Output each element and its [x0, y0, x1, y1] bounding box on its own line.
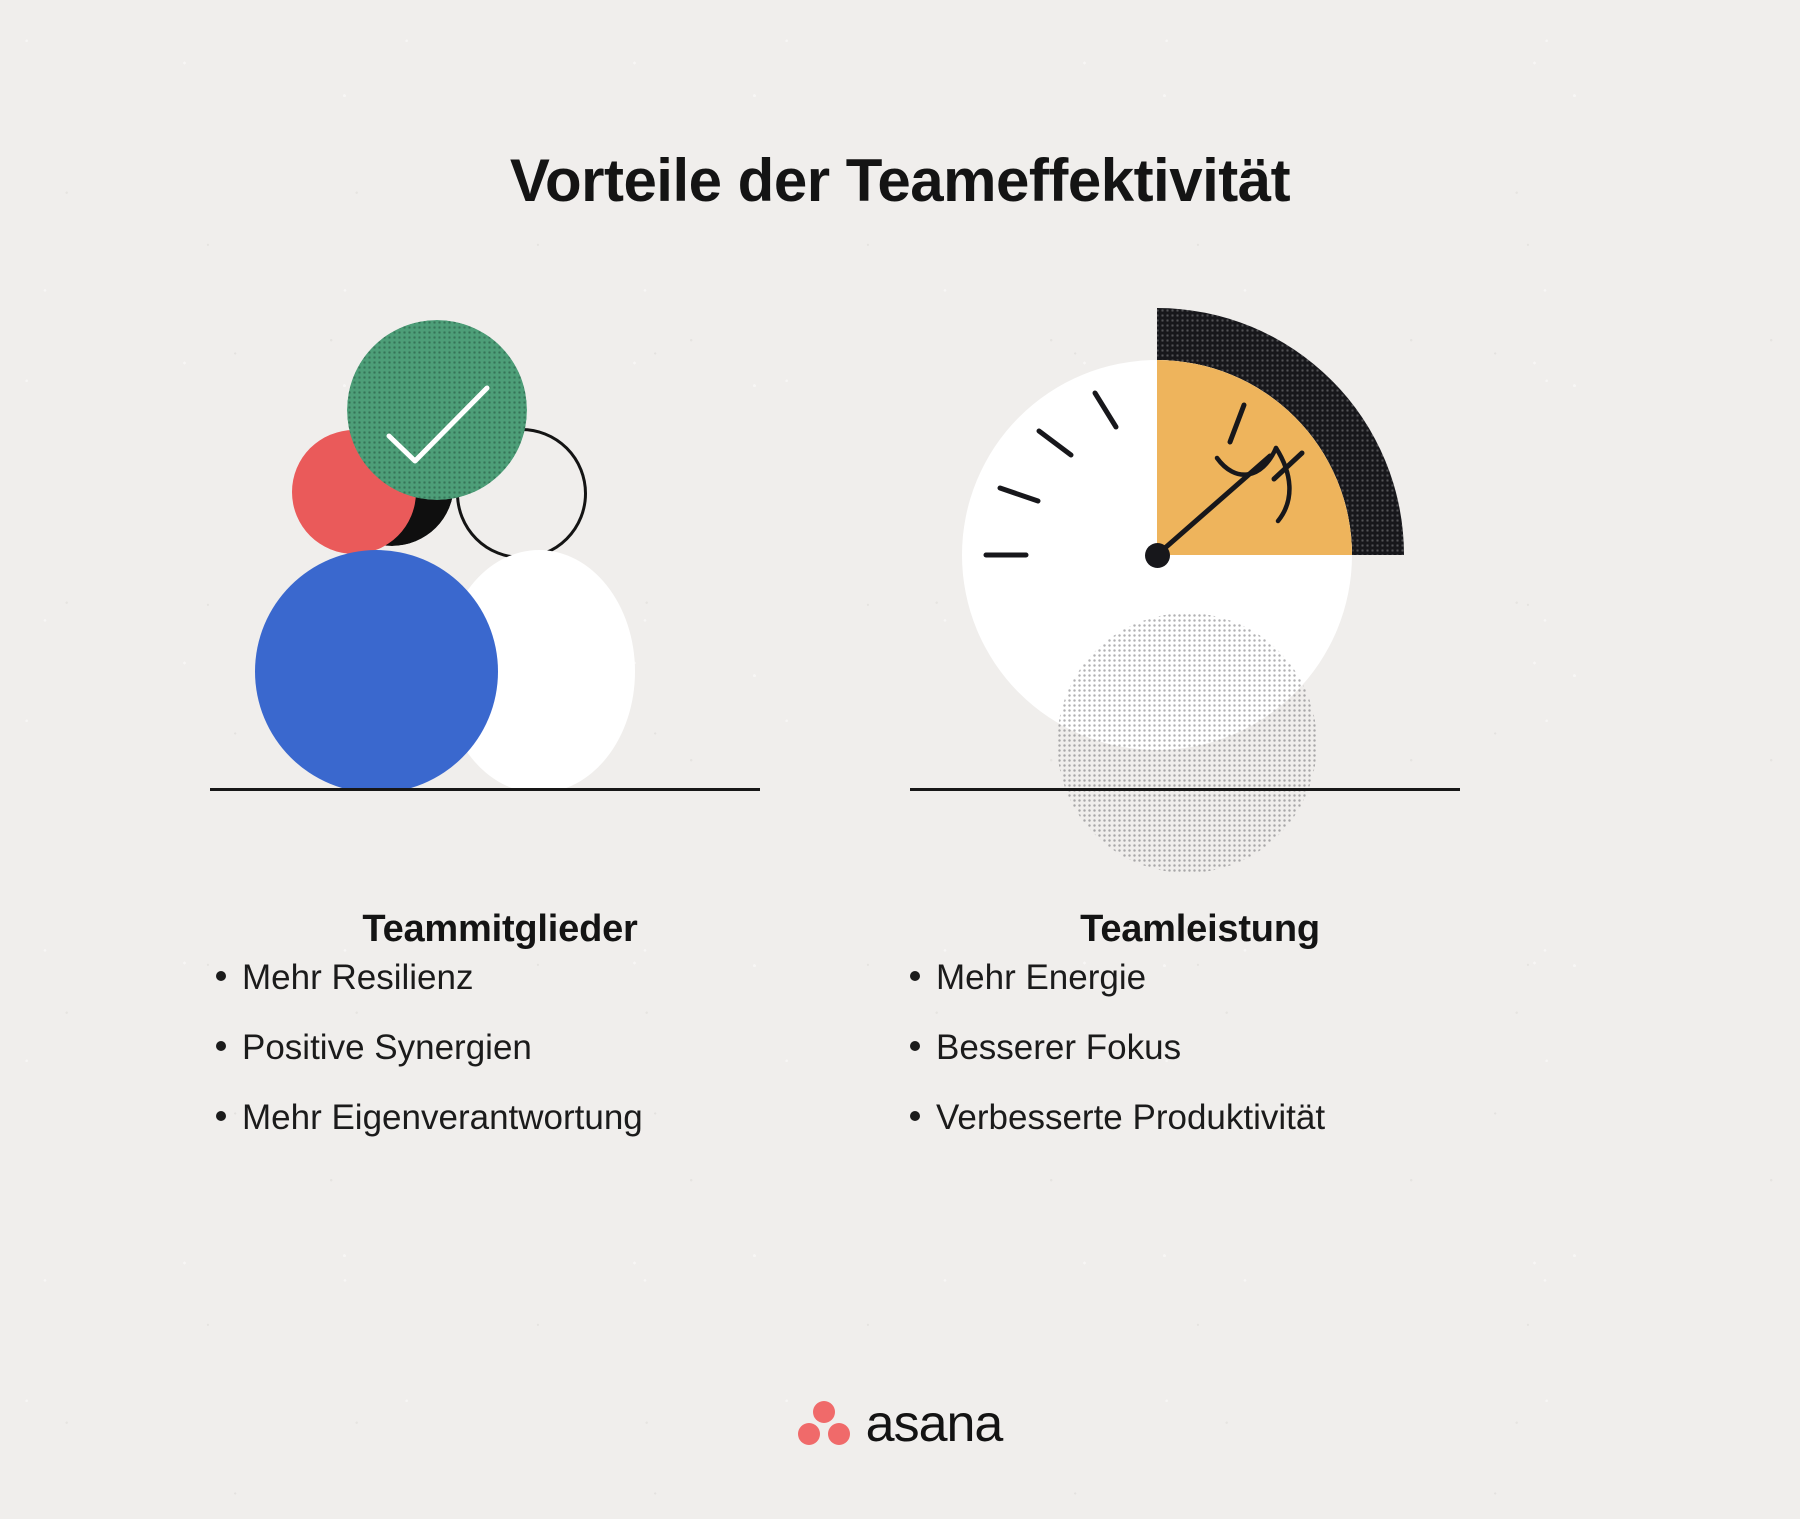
benefit-list-team-members: Mehr Resilienz Positive Synergien Mehr E… [180, 960, 856, 1170]
benefit-list-team-performance: Mehr Energie Besserer Fokus Verbesserte … [880, 960, 1550, 1170]
list-item: Mehr Eigenverantwortung [216, 1100, 856, 1135]
gauge-graphic [940, 308, 1410, 790]
list-item-label: Mehr Energie [936, 958, 1146, 997]
list-item-label: Besserer Fokus [936, 1028, 1181, 1067]
bullet-dot-icon [216, 1111, 226, 1121]
asana-dot-bottom-left [798, 1423, 820, 1445]
column-team-performance: Teamleistung Mehr Energie Besserer Fokus… [880, 300, 1520, 800]
gauge-needle [940, 308, 1410, 790]
asana-dot-top [813, 1401, 835, 1423]
list-item: Verbesserte Produktivität [910, 1100, 1550, 1135]
list-item-label: Mehr Resilienz [242, 958, 473, 997]
column-team-members: Teammitglieder Mehr Resilienz Positive S… [180, 300, 820, 800]
bullet-dot-icon [216, 1041, 226, 1051]
page-title: Vorteile der Teameffektivität [0, 148, 1800, 214]
list-item: Besserer Fokus [910, 1030, 1550, 1065]
asana-wordmark: asana [866, 1398, 1003, 1450]
list-item: Mehr Resilienz [216, 960, 856, 995]
heading-team-members: Teammitglieder [180, 908, 820, 951]
list-item-label: Positive Synergien [242, 1028, 532, 1067]
bullet-dot-icon [216, 971, 226, 981]
green-head-circle [347, 320, 527, 500]
bullet-dot-icon [910, 971, 920, 981]
asana-dot-bottom-right [828, 1423, 850, 1445]
team-members-circles-illustration [180, 300, 820, 800]
ground-line-left [210, 788, 760, 791]
asana-dots-icon [798, 1401, 850, 1447]
list-item: Positive Synergien [216, 1030, 856, 1065]
list-item-label: Verbesserte Produktivität [936, 1098, 1325, 1137]
infographic-page: Vorteile der Teameffektivität Teammitgli… [0, 0, 1800, 1519]
bullet-dot-icon [910, 1041, 920, 1051]
bullet-dot-icon [910, 1111, 920, 1121]
list-item-label: Mehr Eigenverantwortung [242, 1098, 643, 1137]
list-item: Mehr Energie [910, 960, 1550, 995]
asana-logo: asana [0, 1398, 1800, 1450]
performance-gauge-illustration [880, 300, 1520, 800]
blue-body-shape [255, 550, 498, 793]
ground-line-right [910, 788, 1460, 791]
green-halftone-texture [347, 320, 527, 500]
heading-team-performance: Teamleistung [880, 908, 1520, 951]
gauge-center-pivot [1145, 543, 1170, 568]
